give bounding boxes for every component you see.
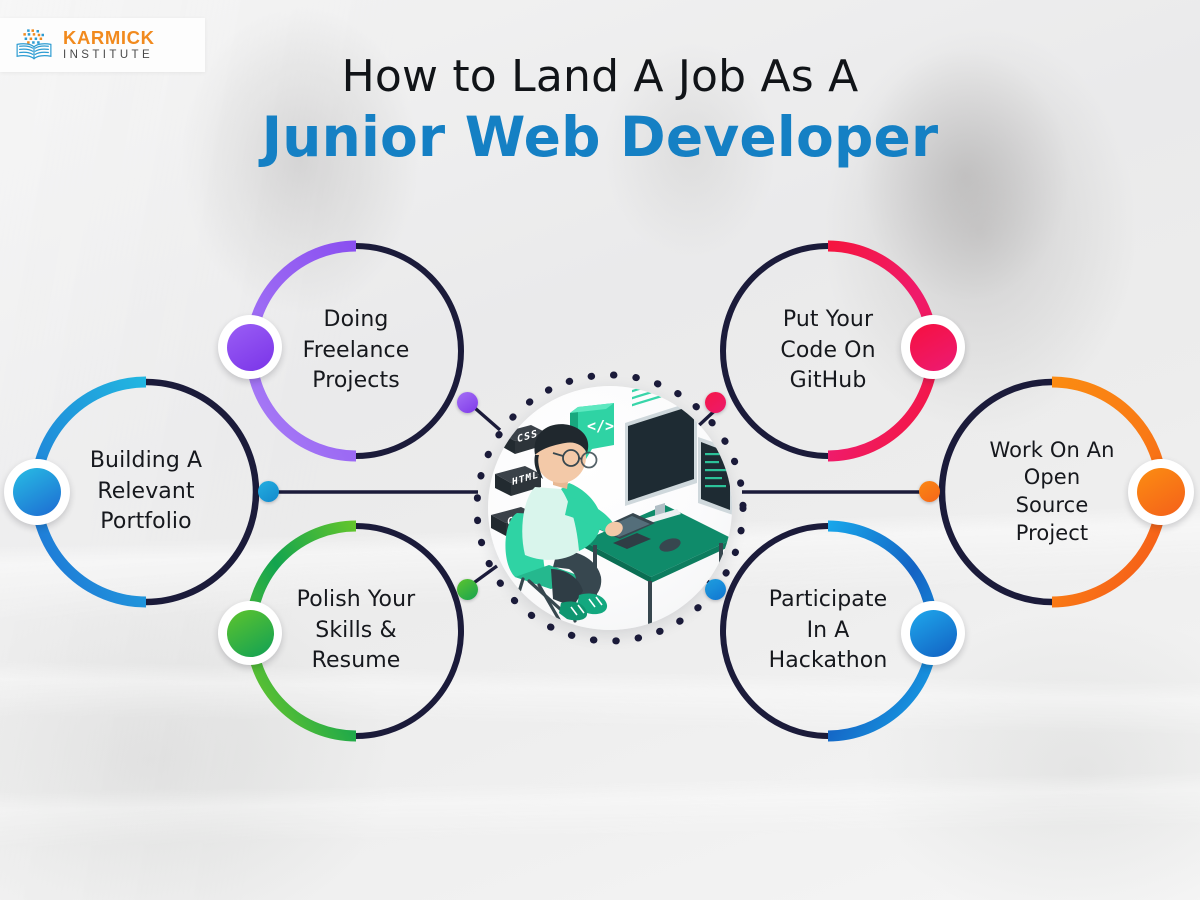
developer-at-desk-illustration: CSS HTML C++ xyxy=(465,363,755,653)
center-illustration: CSS HTML C++ xyxy=(465,363,755,653)
bullet-fill xyxy=(227,610,274,657)
title-line-2: Junior Web Developer xyxy=(0,109,1200,167)
svg-text:</>: </> xyxy=(587,417,614,435)
main-monitor xyxy=(625,363,697,524)
brand-subtitle: INSTITUTE xyxy=(63,50,155,62)
node-doing-freelance-projects[interactable]: Doing Freelance Projects xyxy=(238,233,474,469)
node-polish-your-skills-and-resume[interactable]: Polish Your Skills & Resume xyxy=(238,513,474,749)
node-bullet[interactable] xyxy=(218,601,282,665)
bullet-fill xyxy=(1137,468,1185,516)
connector-knob[interactable] xyxy=(919,481,940,502)
secondary-monitor xyxy=(698,437,733,515)
open-book-pixel-icon xyxy=(14,28,54,62)
brand-wordmark: KARMICK INSTITUTE xyxy=(63,29,155,62)
bullet-fill xyxy=(910,610,957,657)
node-building-a-relevant-portfolio[interactable]: Building A Relevant Portfolio xyxy=(22,368,270,616)
bullet-fill xyxy=(227,324,274,371)
brand-logo[interactable]: KARMICK INSTITUTE xyxy=(0,18,205,72)
bullet-fill xyxy=(910,324,957,371)
node-bullet[interactable] xyxy=(901,601,965,665)
connector-knob[interactable] xyxy=(258,481,279,502)
node-bullet[interactable] xyxy=(218,315,282,379)
brand-name: KARMICK xyxy=(63,29,155,48)
node-work-on-an-open-source-project[interactable]: Work On An Open Source Project xyxy=(928,368,1176,616)
node-bullet[interactable] xyxy=(4,459,70,525)
bullet-fill xyxy=(13,468,61,516)
node-bullet[interactable] xyxy=(1128,459,1194,525)
